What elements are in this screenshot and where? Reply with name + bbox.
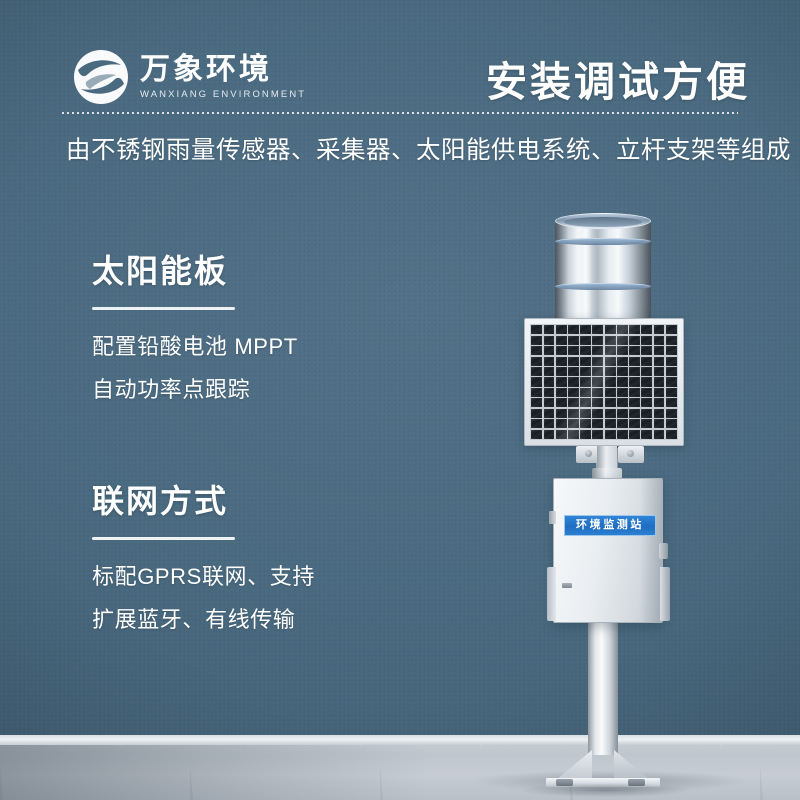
solar-panel xyxy=(524,318,684,446)
solar-cell xyxy=(654,388,665,397)
solar-cell xyxy=(654,325,665,334)
solar-cell xyxy=(666,398,677,407)
solar-cell xyxy=(641,398,652,407)
solar-cell-grid xyxy=(530,324,678,440)
feature-title: 太阳能板 xyxy=(92,252,422,290)
solar-cell xyxy=(654,367,665,376)
feature-block-solar-panel: 太阳能板 配置铅酸电池 MPPT 自动功率点跟踪 xyxy=(92,252,422,412)
solar-cell xyxy=(629,388,640,397)
enclosure-label-text: 环境监测站 xyxy=(576,520,644,531)
solar-cell xyxy=(544,367,555,376)
solar-cell xyxy=(592,398,603,407)
solar-cell xyxy=(580,409,591,418)
solar-cell xyxy=(629,430,640,439)
solar-cell xyxy=(641,336,652,345)
solar-cell xyxy=(568,398,579,407)
solar-cell xyxy=(531,377,542,386)
solar-cell xyxy=(531,419,542,428)
solar-cell xyxy=(568,430,579,439)
solar-cell xyxy=(641,419,652,428)
solar-cell xyxy=(617,336,628,345)
solar-cell xyxy=(629,377,640,386)
solar-cell xyxy=(568,346,579,355)
solar-cell xyxy=(629,419,640,428)
solar-cell xyxy=(605,357,616,366)
feature-rule xyxy=(92,537,235,540)
swirl-circle-logo-icon xyxy=(72,48,130,106)
feature-block-network: 联网方式 标配GPRS联网、支持 扩展蓝牙、有线传输 xyxy=(92,482,422,642)
solar-cell xyxy=(629,336,640,345)
solar-cell xyxy=(568,388,579,397)
solar-cell xyxy=(568,419,579,428)
solar-cell xyxy=(580,377,591,386)
solar-cell xyxy=(531,336,542,345)
solar-cell xyxy=(544,409,555,418)
solar-cell xyxy=(666,357,677,366)
solar-cell xyxy=(641,346,652,355)
solar-cell xyxy=(629,346,640,355)
feature-line: 自动功率点跟踪 xyxy=(92,369,422,412)
enclosure-side-tab-left xyxy=(547,567,556,621)
solar-cell xyxy=(617,346,628,355)
solar-cell xyxy=(556,419,567,428)
solar-cell xyxy=(666,419,677,428)
solar-cell xyxy=(568,367,579,376)
feature-rule xyxy=(92,307,235,310)
feature-line: 配置铅酸电池 MPPT xyxy=(92,326,422,369)
solar-cell xyxy=(666,430,677,439)
bracket-bolt-left xyxy=(585,450,592,457)
solar-cell xyxy=(654,336,665,345)
pole-gusset-right xyxy=(614,750,650,780)
pole-gusset-left xyxy=(556,750,592,780)
solar-cell xyxy=(654,419,665,428)
mounting-pole-lower xyxy=(588,600,618,755)
solar-cell xyxy=(592,430,603,439)
solar-cell xyxy=(531,409,542,418)
solar-cell xyxy=(531,367,542,376)
solar-cell xyxy=(580,357,591,366)
solar-cell xyxy=(544,398,555,407)
solar-cell xyxy=(605,377,616,386)
solar-cell xyxy=(580,430,591,439)
rain-gauge-band xyxy=(555,283,651,290)
solar-cell xyxy=(654,430,665,439)
solar-cell xyxy=(666,377,677,386)
solar-cell xyxy=(605,430,616,439)
solar-cell xyxy=(556,336,567,345)
enclosure-side-tab-right xyxy=(660,567,670,621)
solar-cell xyxy=(568,357,579,366)
solar-cell xyxy=(641,409,652,418)
solar-cell xyxy=(629,409,640,418)
solar-cell xyxy=(531,398,542,407)
solar-cell xyxy=(605,367,616,376)
solar-cell xyxy=(592,388,603,397)
solar-cell xyxy=(654,398,665,407)
solar-cell xyxy=(654,346,665,355)
solar-cell xyxy=(592,367,603,376)
solar-cell xyxy=(629,367,640,376)
rain-gauge-band xyxy=(555,238,651,245)
solar-cell xyxy=(592,419,603,428)
solar-cell xyxy=(629,357,640,366)
solar-cell xyxy=(592,336,603,345)
solar-cell xyxy=(556,398,567,407)
solar-cell xyxy=(531,346,542,355)
header: 万象环境 WANXIANG ENVIRONMENT 安装调试方便 由不锈钢雨量传… xyxy=(0,0,800,180)
solar-cell xyxy=(641,325,652,334)
solar-cell xyxy=(556,388,567,397)
solar-cell xyxy=(666,336,677,345)
solar-cell xyxy=(531,388,542,397)
solar-cell xyxy=(556,430,567,439)
solar-cell xyxy=(605,346,616,355)
solar-cell xyxy=(641,357,652,366)
solar-cell xyxy=(544,346,555,355)
brand-logo: 万象环境 WANXIANG ENVIRONMENT xyxy=(72,48,306,106)
feature-title: 联网方式 xyxy=(92,482,422,520)
solar-cell xyxy=(580,336,591,345)
enclosure-latch xyxy=(659,543,668,559)
solar-cell xyxy=(654,357,665,366)
solar-cell xyxy=(592,409,603,418)
solar-cell xyxy=(605,325,616,334)
solar-cell xyxy=(580,419,591,428)
solar-cell xyxy=(605,398,616,407)
solar-cell xyxy=(544,430,555,439)
solar-cell xyxy=(568,409,579,418)
solar-cell xyxy=(580,367,591,376)
solar-cell xyxy=(605,336,616,345)
solar-cell xyxy=(654,409,665,418)
solar-cell xyxy=(617,430,628,439)
data-logger-enclosure: 环境监测站 xyxy=(553,478,663,623)
solar-cell xyxy=(666,409,677,418)
solar-cell xyxy=(617,367,628,376)
enclosure-vent xyxy=(562,583,572,588)
solar-cell xyxy=(531,325,542,334)
solar-cell xyxy=(617,419,628,428)
solar-cell xyxy=(592,346,603,355)
feature-line: 标配GPRS联网、支持 xyxy=(92,556,422,599)
enclosure-hinge-top xyxy=(549,511,556,524)
solar-cell xyxy=(556,346,567,355)
solar-cell xyxy=(544,419,555,428)
solar-cell xyxy=(617,388,628,397)
solar-cell xyxy=(629,325,640,334)
solar-cell xyxy=(592,377,603,386)
solar-cell xyxy=(580,325,591,334)
rain-gauge-funnel-inner xyxy=(564,217,642,227)
solar-cell xyxy=(556,325,567,334)
header-subtitle: 由不锈钢雨量传感器、采集器、太阳能供电系统、立杆支架等组成 xyxy=(66,131,766,166)
solar-cell xyxy=(605,388,616,397)
solar-cell xyxy=(544,388,555,397)
solar-cell xyxy=(629,398,640,407)
solar-cell xyxy=(531,357,542,366)
solar-cell xyxy=(592,325,603,334)
solar-cell xyxy=(641,367,652,376)
solar-cell xyxy=(568,336,579,345)
solar-cell xyxy=(654,377,665,386)
solar-cell xyxy=(617,409,628,418)
solar-cell xyxy=(580,398,591,407)
bracket-bolt-right xyxy=(627,450,634,457)
solar-cell xyxy=(666,325,677,334)
solar-cell xyxy=(531,430,542,439)
solar-cell xyxy=(666,388,677,397)
solar-cell xyxy=(580,388,591,397)
solar-cell xyxy=(556,409,567,418)
solar-cell xyxy=(605,409,616,418)
solar-cell xyxy=(605,419,616,428)
solar-cell xyxy=(592,357,603,366)
feature-line: 扩展蓝牙、有线传输 xyxy=(92,599,422,642)
solar-cell xyxy=(641,430,652,439)
solar-cell xyxy=(556,367,567,376)
solar-cell xyxy=(568,325,579,334)
solar-cell xyxy=(641,388,652,397)
solar-cell xyxy=(544,325,555,334)
solar-cell xyxy=(544,357,555,366)
base-contact-shadow xyxy=(520,783,690,797)
page-title: 安装调试方便 xyxy=(486,48,750,108)
solar-cell xyxy=(556,357,567,366)
solar-cell xyxy=(617,398,628,407)
header-dotted-divider xyxy=(62,112,738,114)
solar-cell xyxy=(556,377,567,386)
brand-text: 万象环境 WANXIANG ENVIRONMENT xyxy=(140,54,306,101)
brand-name-en: WANXIANG ENVIRONMENT xyxy=(140,89,306,100)
solar-cell xyxy=(617,325,628,334)
solar-cell xyxy=(617,357,628,366)
solar-cell xyxy=(617,377,628,386)
enclosure-label-badge: 环境监测站 xyxy=(564,515,656,536)
brand-name-cn: 万象环境 xyxy=(140,54,306,86)
solar-cell xyxy=(580,346,591,355)
solar-cell xyxy=(666,346,677,355)
solar-cell xyxy=(666,367,677,376)
solar-cell xyxy=(568,377,579,386)
solar-cell xyxy=(544,377,555,386)
solar-cell xyxy=(641,377,652,386)
solar-cell xyxy=(544,336,555,345)
